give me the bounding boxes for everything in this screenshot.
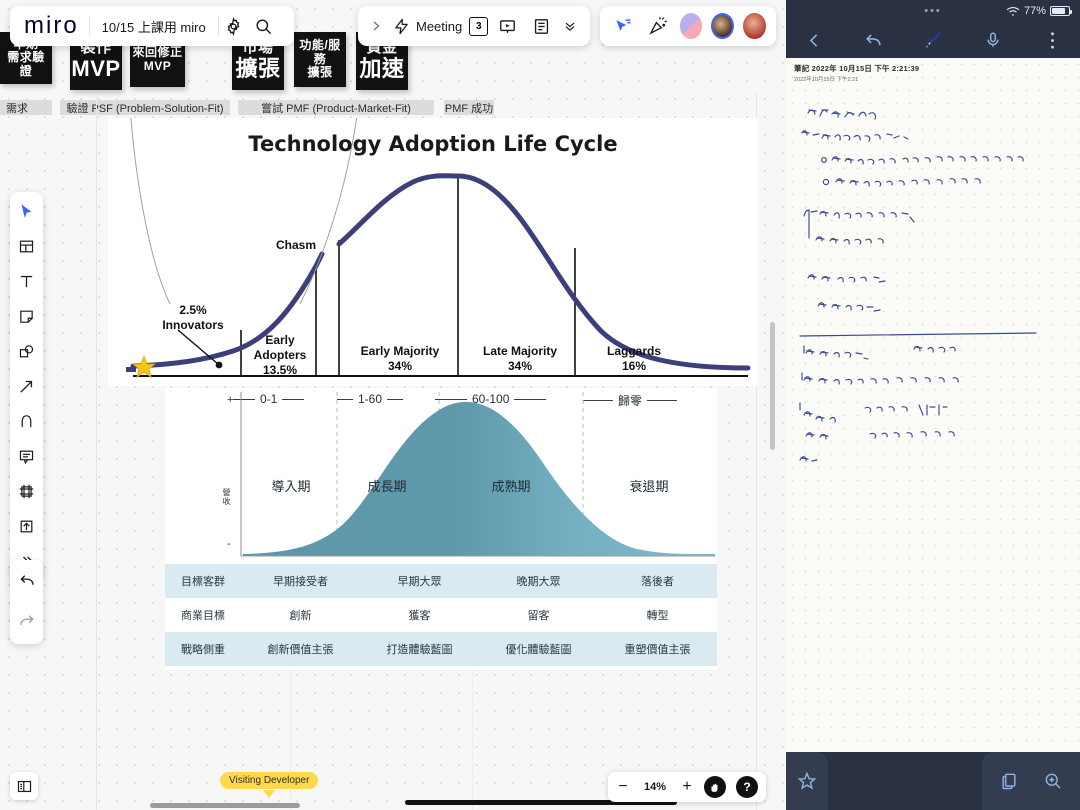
notes-app[interactable]: ••• 77% <box>786 0 1080 810</box>
shapes-icon[interactable] <box>14 338 40 364</box>
meeting-label[interactable]: Meeting <box>416 19 465 34</box>
stage-label: 成熟期 <box>481 476 541 495</box>
miro-top-toolbar[interactable]: miro 10/15 上課用 miro <box>10 6 294 46</box>
segment-label-innovators: 2.5% Innovators <box>138 303 248 333</box>
innovators-name: Innovators <box>162 318 223 332</box>
avatar[interactable] <box>680 13 703 39</box>
cell: 打造體驗藍圖 <box>360 641 479 657</box>
status-right: 77% <box>1006 5 1070 17</box>
more-options-button[interactable] <box>1038 26 1066 54</box>
phase-bar-label: 嘗試 PMF (Product-Market-Fit) <box>261 100 411 115</box>
notes-bottom-bar[interactable] <box>786 752 1080 810</box>
hand-icon[interactable] <box>704 776 726 798</box>
zoom-level[interactable]: 14% <box>640 781 670 793</box>
lightning-icon[interactable] <box>390 11 412 41</box>
microphone-button[interactable] <box>979 26 1007 54</box>
text-icon[interactable] <box>14 268 40 294</box>
cell: 早期大眾 <box>360 573 479 589</box>
phase-bar-label: 需求 <box>6 100 28 115</box>
party-popper-icon[interactable] <box>645 11 671 41</box>
notes-toolbar[interactable] <box>786 22 1080 58</box>
cell: 獲客 <box>360 607 479 623</box>
phase-bar[interactable]: 驗證 PSF (Problem-Solution-Fit) <box>60 100 230 115</box>
table-row: 商業目標 創新 獲客 留客 轉型 <box>165 598 717 632</box>
visitor-cursor-tag: Visiting Developer <box>220 772 318 798</box>
board-title[interactable]: 10/15 上課用 miro <box>90 17 218 36</box>
note-meta: 筆記 2022年 10月15日 下午 2:21:39 2022年10月15日 下… <box>786 58 1080 83</box>
note-canvas[interactable]: 筆記 2022年 10月15日 下午 2:21:39 2022年10月15日 下… <box>786 58 1080 752</box>
zoom-in-icon[interactable] <box>1040 768 1066 794</box>
card-line-2: MVP <box>144 60 172 73</box>
stage-label: 衰退期 <box>619 476 679 495</box>
back-button[interactable] <box>800 26 828 54</box>
stage-label: 成長期 <box>357 476 417 495</box>
redo-icon[interactable] <box>14 608 40 634</box>
wifi-icon <box>1006 6 1020 17</box>
avatar[interactable] <box>711 13 734 39</box>
card-line-2: 擴張 <box>307 66 332 79</box>
phase-bar[interactable]: 嘗試 PMF (Product-Market-Fit) <box>238 100 434 115</box>
segment-label-early-majority: Early Majority 34% <box>346 344 454 374</box>
phase-bar[interactable]: PMF 成功 <box>444 100 494 115</box>
tools-panel[interactable] <box>10 192 43 580</box>
select-tool[interactable] <box>14 198 40 224</box>
comment-icon[interactable] <box>14 443 40 469</box>
cell: 創新價值主張 <box>241 641 360 657</box>
lifecycle-table: 目標客群 早期接受者 早期大眾 晚期大眾 落後者 商業目標 創新 獲客 留客 轉… <box>165 564 717 666</box>
battery-icon <box>1050 6 1070 16</box>
undo-button[interactable] <box>860 26 888 54</box>
phase-bar[interactable]: 需求 <box>0 100 52 115</box>
frame-icon[interactable] <box>14 478 40 504</box>
annotation-chasm: Chasm <box>256 238 336 253</box>
technology-adoption-chart[interactable]: Technology Adoption Life Cycle 2.5% <box>108 118 758 386</box>
cell: 落後者 <box>598 573 717 589</box>
row-header: 戰略側重 <box>165 641 241 657</box>
participants-count[interactable]: 3 <box>469 17 488 36</box>
cell: 重塑價值主張 <box>598 641 717 657</box>
zoom-out-button[interactable]: − <box>616 779 630 795</box>
sticky-card[interactable]: 功能/服務 擴張 <box>294 32 346 87</box>
cell: 優化體驗藍圖 <box>479 641 598 657</box>
card-line-2: MVP <box>71 57 120 82</box>
card-line-2: 擴張 <box>235 57 280 82</box>
search-icon[interactable] <box>249 11 279 41</box>
pen-icon[interactable] <box>14 408 40 434</box>
segment-label-early-adopters: EarlyAdopters 13.5% <box>247 333 313 378</box>
vertical-scrollbar[interactable] <box>770 322 775 450</box>
innovators-value: 2.5% <box>179 303 206 317</box>
collaboration-toolbar[interactable] <box>600 6 776 46</box>
miro-board-canvas[interactable]: 早期 需求驗證 裝作 MVP 來回修正 MVP 市場 擴張 功能/服務 擴張 資… <box>0 0 786 810</box>
pen-button[interactable] <box>919 26 947 54</box>
undo-icon[interactable] <box>14 568 40 594</box>
horizontal-scrollbar[interactable] <box>150 803 300 808</box>
product-lifecycle-chart[interactable]: 0-1 1-60 60-100 歸零 + - 營收 <box>165 388 717 670</box>
row-header: 商業目標 <box>165 607 241 623</box>
card-line-2: 需求驗證 <box>2 51 50 78</box>
template-icon[interactable] <box>14 233 40 259</box>
star-icon[interactable] <box>794 768 820 794</box>
battery-percent: 77% <box>1024 5 1046 17</box>
canvas-divider <box>96 92 97 810</box>
stage-label: 導入期 <box>261 476 321 495</box>
question-mark-icon[interactable]: ? <box>736 776 758 798</box>
arrow-icon[interactable] <box>14 373 40 399</box>
cell: 早期接受者 <box>241 573 360 589</box>
sticky-note-icon[interactable] <box>14 303 40 329</box>
favorite-button[interactable] <box>786 752 828 810</box>
meeting-toolbar[interactable]: Meeting 3 <box>358 6 590 46</box>
phase-bar-label: PMF 成功 <box>445 100 493 115</box>
notes-icon[interactable] <box>526 11 556 41</box>
presentation-icon[interactable] <box>492 11 522 41</box>
cell: 留客 <box>479 607 598 623</box>
segment-label-laggards: Laggards 16% <box>580 344 688 374</box>
history-panel[interactable] <box>10 560 43 644</box>
row-header: 目標客群 <box>165 573 241 589</box>
segment-label-late-majority: Late Majority 34% <box>466 344 574 374</box>
cell: 創新 <box>241 607 360 623</box>
note-subtitle: 2022年10月15日 下午2:21 <box>794 75 1072 83</box>
pages-icon[interactable] <box>996 768 1022 794</box>
avatar[interactable] <box>743 13 766 39</box>
miro-logo[interactable]: miro <box>10 12 89 40</box>
zoom-toolbar[interactable]: − 14% + ? <box>608 772 766 802</box>
chevron-right-icon[interactable] <box>366 11 386 41</box>
phase-bar-label: 驗證 PSF (Problem-Solution-Fit) <box>66 100 223 115</box>
status-dots: ••• <box>924 5 942 17</box>
cell: 轉型 <box>598 607 717 623</box>
cell: 晚期大眾 <box>479 573 598 589</box>
chevron-double-down-icon[interactable] <box>560 11 580 41</box>
handwriting-ink <box>786 88 1080 728</box>
card-line-1: 功能/服務 <box>296 39 344 66</box>
card-line-2: 加速 <box>359 57 404 82</box>
notes-actions[interactable] <box>982 752 1080 810</box>
zoom-in-button[interactable]: + <box>680 779 694 795</box>
visitor-pointer <box>263 790 275 798</box>
table-row: 目標客群 早期接受者 早期大眾 晚期大眾 落後者 <box>165 564 717 598</box>
note-title: 筆記 2022年 10月15日 下午 2:21:39 <box>794 63 1072 74</box>
sidebar-panel-icon[interactable] <box>10 772 38 800</box>
gear-icon[interactable] <box>219 11 249 41</box>
upload-icon[interactable] <box>14 513 40 539</box>
visitor-label: Visiting Developer <box>220 772 318 789</box>
card-line-1: 來回修正 <box>132 46 182 59</box>
table-row: 戰略側重 創新價值主張 打造體驗藍圖 優化體驗藍圖 重塑價值主張 <box>165 632 717 666</box>
cursor-share-icon[interactable] <box>610 11 636 41</box>
status-bar: ••• 77% <box>786 0 1080 22</box>
